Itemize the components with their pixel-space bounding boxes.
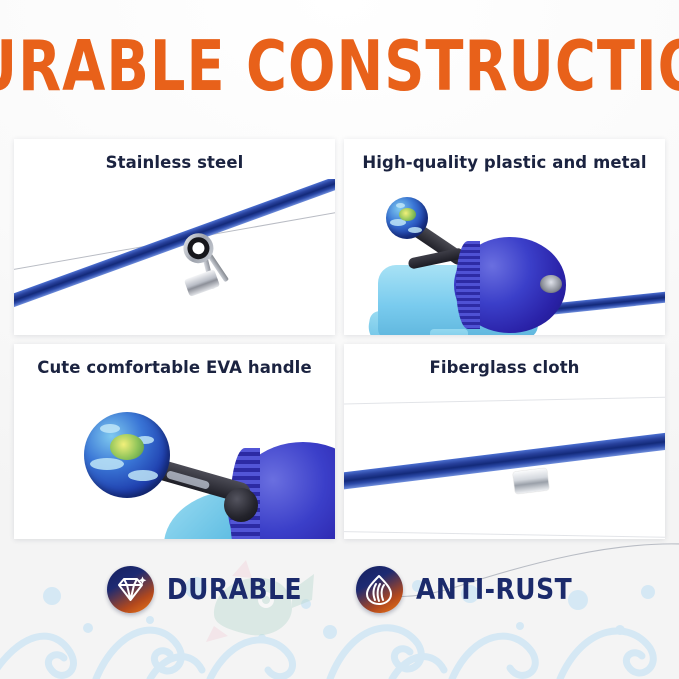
badge-anti-rust: ANTI-RUST: [356, 566, 572, 613]
card-title: Fiberglass cloth: [344, 358, 665, 377]
handle-knob: [386, 197, 428, 239]
reel-foot: [430, 329, 468, 335]
badge-label: DURABLE: [167, 573, 302, 606]
ferrule-joint: [513, 468, 549, 494]
knob-fish-graphic: [399, 208, 416, 221]
backdrop-seam: [344, 396, 665, 404]
product-photo-handle: [14, 384, 335, 540]
footer-banner: DURABLE ANTI-RUST: [0, 534, 679, 679]
page-title-container: DURABLE CONSTRUCTION: [0, 24, 679, 110]
badge-label: ANTI-RUST: [416, 573, 572, 606]
rod-blank: [344, 422, 665, 492]
water-drop-icon: [356, 566, 403, 613]
reel-cover-ridges: [456, 241, 480, 329]
line-port: [540, 275, 562, 293]
card-title: High-quality plastic and metal: [344, 153, 665, 172]
card-title: Cute comfortable EVA handle: [14, 358, 335, 377]
product-photo-fiberglass: [344, 384, 665, 540]
crank-hub: [224, 488, 258, 522]
product-photo-stainless-steel: [14, 179, 335, 335]
page-title: DURABLE CONSTRUCTION: [0, 32, 679, 102]
feature-card-stainless-steel: Stainless steel: [14, 139, 335, 335]
card-title: Stainless steel: [14, 153, 335, 172]
feature-grid: Stainless steel High-quality plastic and…: [14, 139, 665, 539]
badge-row: DURABLE ANTI-RUST: [0, 566, 679, 613]
handle-knob: [84, 412, 170, 498]
diamond-icon: [107, 566, 154, 613]
knob-fish-graphic: [110, 434, 144, 460]
infographic-page: DURABLE CONSTRUCTION Stainless steel: [0, 0, 679, 679]
product-photo-reel: [344, 179, 665, 335]
badge-durable: DURABLE: [107, 566, 302, 613]
feature-card-eva-handle: Cute comfortable EVA handle: [14, 344, 335, 540]
feature-card-fiberglass: Fiberglass cloth: [344, 344, 665, 540]
rod-blank: [14, 179, 335, 314]
feature-card-plastic-metal: High-quality plastic and metal: [344, 139, 665, 335]
